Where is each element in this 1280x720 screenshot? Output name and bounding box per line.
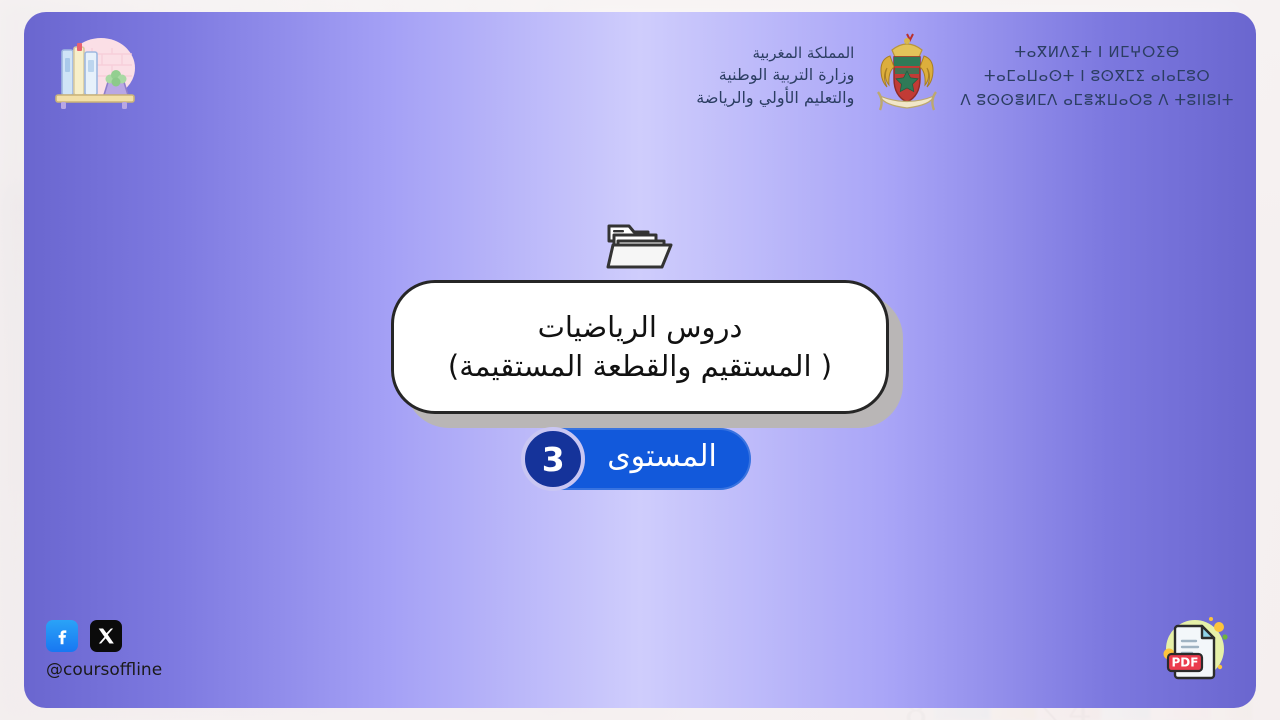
facebook-icon[interactable] — [46, 620, 78, 652]
arabic-line-2: وزارة التربية الوطنية — [696, 64, 854, 87]
tifinagh-line-3: ⴷ ⵓⵙⵙⴻⵍⵎⴷ ⴰⵎⴻⵣⵡⴰⵔⵓ ⴷ ⵜⵓⵏⵏⵓⵏⵜ — [960, 88, 1234, 112]
moroccan-coat-of-arms-icon — [868, 30, 946, 122]
social-handle: @coursoffline — [46, 660, 162, 680]
social-block: @coursoffline — [46, 620, 162, 680]
tifinagh-line-2: ⵜⴰⵎⴰⵡⴰⵙⵜ ⵏ ⵓⵙⴳⵎⵉ ⴰⵏⴰⵎⵓⵔ — [960, 64, 1234, 88]
arabic-line-3: والتعليم الأولي والرياضة — [696, 87, 854, 110]
level-label: المستوى — [607, 442, 717, 476]
arabic-line-1: المملكة المغربية — [696, 43, 854, 64]
bookshelf-logo — [46, 34, 138, 112]
ministry-tifinagh: ⵜⴰⴳⵍⴷⵉⵜ ⵏ ⵍⵎⵖⵔⵉⴱ ⵜⴰⵎⴰⵡⴰⵙⵜ ⵏ ⵓⵙⴳⵎⵉ ⴰⵏⴰⵎⵓⵔ… — [960, 40, 1234, 112]
ministry-header: ⵜⴰⴳⵍⴷⵉⵜ ⵏ ⵍⵎⵖⵔⵉⴱ ⵜⴰⵎⴰⵡⴰⵙⵜ ⵏ ⵓⵙⴳⵎⵉ ⴰⵏⴰⵎⵓⵔ… — [696, 30, 1234, 122]
ministry-arabic: المملكة المغربية وزارة التربية الوطنية و… — [696, 43, 854, 110]
lesson-title-line-1: دروس الرياضيات — [538, 308, 743, 347]
lesson-title-line-2: ( المستقيم والقطعة المستقيمة) — [448, 347, 832, 386]
x-twitter-icon[interactable] — [90, 620, 122, 652]
pdf-file-icon[interactable]: PDF — [1156, 610, 1234, 688]
title-block: دروس الرياضيات ( المستقيم والقطعة المستق… — [0, 214, 1280, 490]
social-icons — [46, 620, 162, 652]
slide: 12 1 2 3 4 5 6 7 8 9 10 11 — [0, 0, 1280, 720]
level-indicator: المستوى 3 — [529, 428, 751, 490]
pdf-label: PDF — [1172, 656, 1199, 670]
level-number-badge: 3 — [521, 427, 585, 491]
open-folder-icon — [604, 214, 676, 272]
lesson-title-card: دروس الرياضيات ( المستقيم والقطعة المستق… — [391, 280, 889, 414]
lesson-title-card-wrap: دروس الرياضيات ( المستقيم والقطعة المستق… — [391, 280, 889, 414]
tifinagh-line-1: ⵜⴰⴳⵍⴷⵉⵜ ⵏ ⵍⵎⵖⵔⵉⴱ — [960, 40, 1234, 64]
